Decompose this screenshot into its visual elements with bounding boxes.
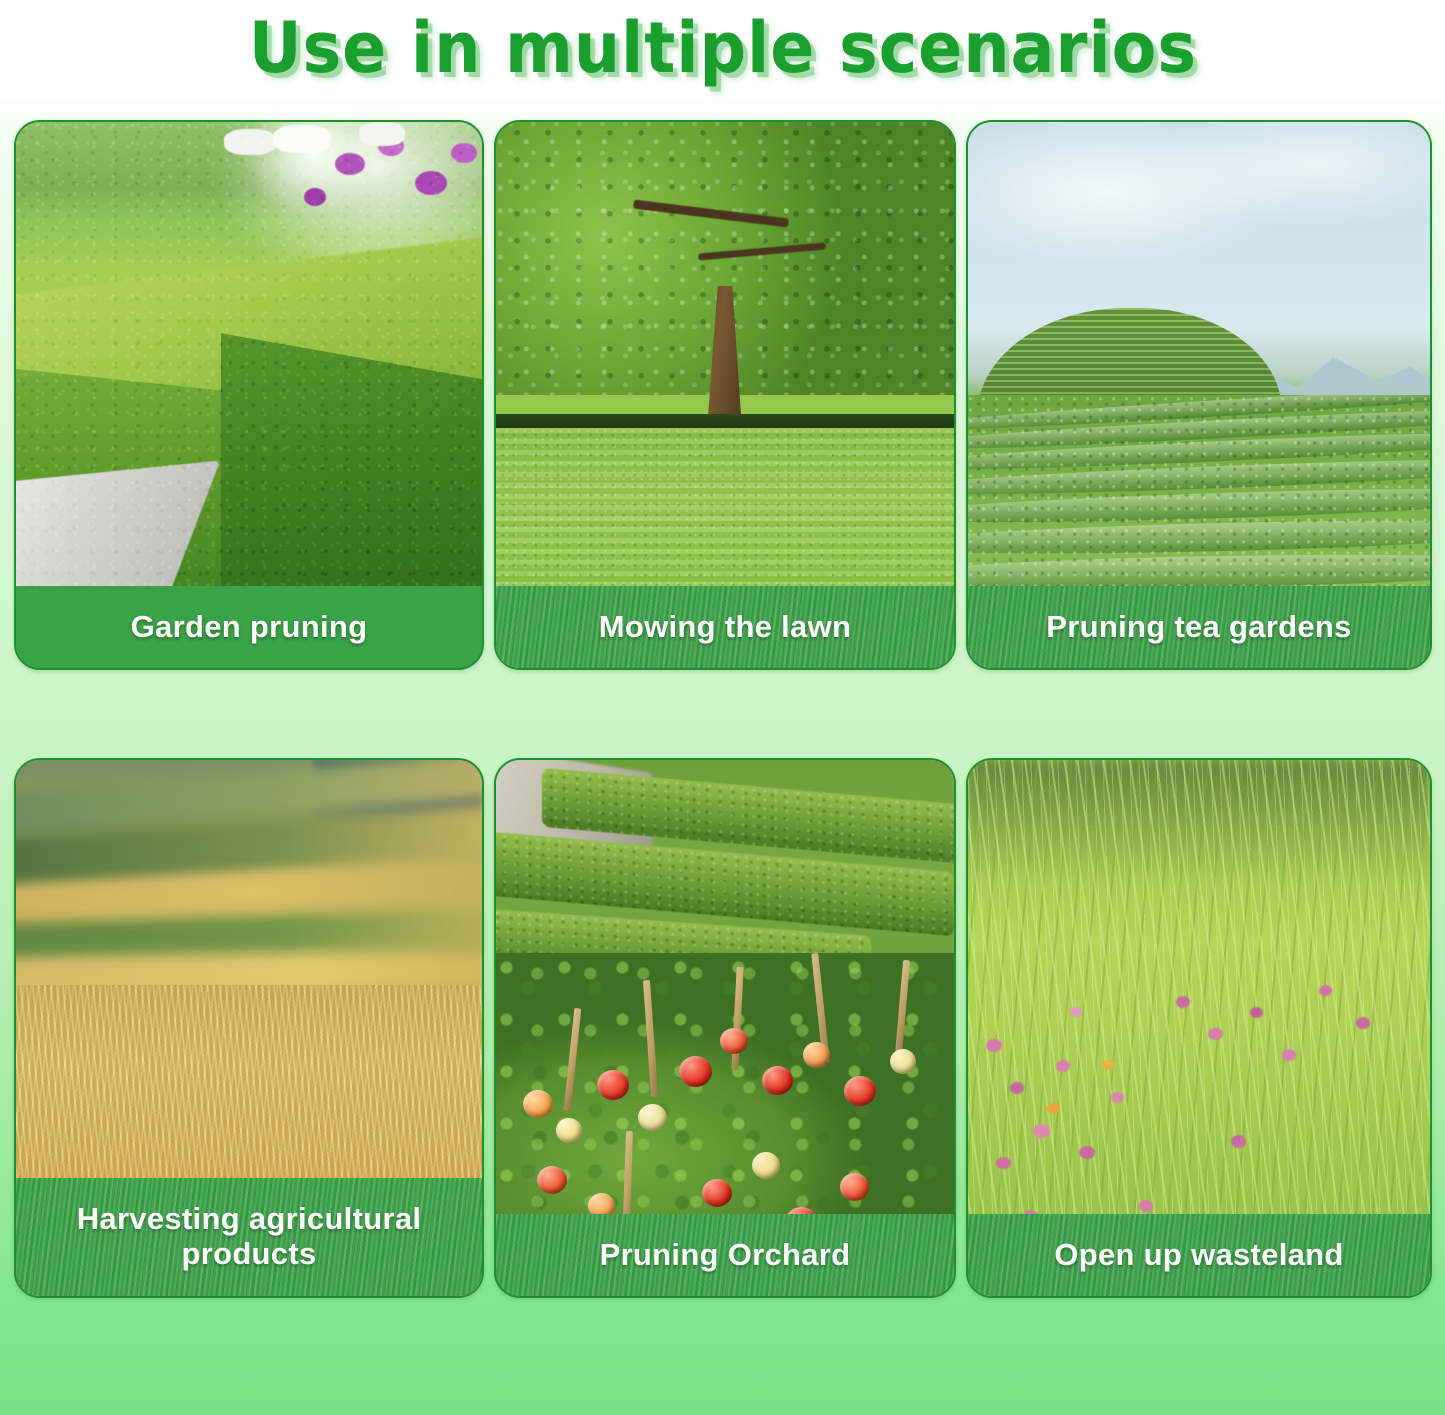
scenario-caption-mowing-the-lawn: Mowing the lawn	[496, 586, 954, 668]
header-bar: Use in multiple scenarios	[0, 0, 1445, 95]
scenario-card-harvesting-agricultural-products[interactable]: Harvesting agricultural products	[14, 758, 484, 1298]
scenario-caption-open-up-wasteland: Open up wasteland	[968, 1214, 1430, 1296]
scenario-card-open-up-wasteland[interactable]: Open up wasteland	[966, 758, 1432, 1298]
scenario-caption-harvesting-agricultural-products: Harvesting agricultural products	[16, 1178, 482, 1296]
scenario-grid: Garden pruning Mowing the lawn	[14, 120, 1431, 1298]
scenario-card-mowing-the-lawn[interactable]: Mowing the lawn	[494, 120, 956, 670]
scenario-caption-garden-pruning: Garden pruning	[16, 586, 482, 668]
scenario-caption-pruning-tea-gardens: Pruning tea gardens	[968, 586, 1430, 668]
scenario-card-pruning-orchard[interactable]: Pruning Orchard	[494, 758, 956, 1298]
scenario-caption-pruning-orchard: Pruning Orchard	[496, 1214, 954, 1296]
page-title: Use in multiple scenarios	[248, 13, 1196, 83]
scenario-card-garden-pruning[interactable]: Garden pruning	[14, 120, 484, 670]
scenario-card-pruning-tea-gardens[interactable]: Pruning tea gardens	[966, 120, 1432, 670]
